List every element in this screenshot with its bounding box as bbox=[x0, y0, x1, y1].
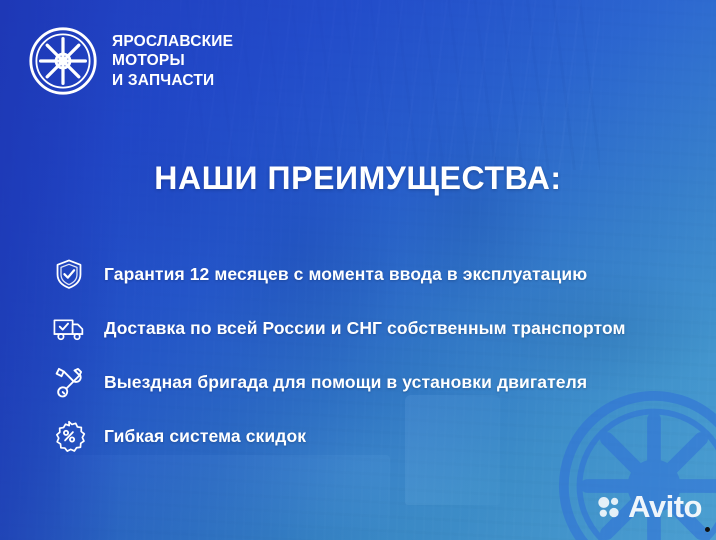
advantages-list: Гарантия 12 месяцев с момента ввода в эк… bbox=[52, 256, 676, 454]
list-item-label: Доставка по всей России и СНГ собственны… bbox=[104, 318, 626, 339]
delivery-truck-check-icon bbox=[52, 311, 86, 345]
list-item-label: Выездная бригада для помощи в установки … bbox=[104, 372, 587, 393]
brand-name-line-2: МОТОРЫ bbox=[112, 51, 233, 70]
list-item-label: Гибкая система скидок bbox=[104, 426, 306, 447]
brand-name-line-3: И ЗАПЧАСТИ bbox=[112, 71, 233, 90]
brand-name-line-1: ЯРОСЛАВСКИЕ bbox=[112, 32, 233, 51]
list-item: Гарантия 12 месяцев с момента ввода в эк… bbox=[52, 256, 676, 292]
brand-name: ЯРОСЛАВСКИЕ МОТОРЫ И ЗАПЧАСТИ bbox=[112, 32, 233, 89]
brand-logo-lockup: ЯРОСЛАВСКИЕ МОТОРЫ И ЗАПЧАСТИ bbox=[28, 26, 233, 96]
page-title: НАШИ ПРЕИМУЩЕСТВА: bbox=[0, 160, 716, 197]
list-item: Гибкая система скидок bbox=[52, 418, 676, 454]
corner-dot bbox=[705, 527, 710, 532]
wrench-screwdriver-icon bbox=[52, 365, 86, 399]
list-item: Выездная бригада для помощи в установки … bbox=[52, 364, 676, 400]
list-item-label: Гарантия 12 месяцев с момента ввода в эк… bbox=[104, 264, 587, 285]
shield-check-icon bbox=[52, 257, 86, 291]
avito-watermark: Avito bbox=[596, 491, 702, 522]
avito-wordmark: Avito bbox=[628, 491, 702, 522]
promo-banner: ЯРОСЛАВСКИЕ МОТОРЫ И ЗАПЧАСТИ НАШИ ПРЕИМ… bbox=[0, 0, 716, 540]
avito-dots-icon bbox=[596, 494, 622, 520]
discount-percent-badge-icon bbox=[52, 419, 86, 453]
rosette-wheel-emblem-icon bbox=[28, 26, 98, 96]
list-item: Доставка по всей России и СНГ собственны… bbox=[52, 310, 676, 346]
